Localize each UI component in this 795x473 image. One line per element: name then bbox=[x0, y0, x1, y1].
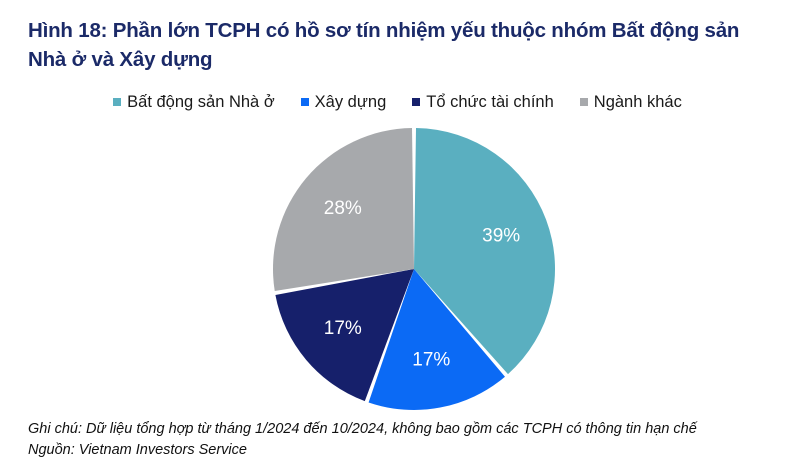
title-line-2: Nhà ở và Xây dựng bbox=[28, 45, 768, 74]
legend-item-to-chuc-tai-chinh[interactable]: Tổ chức tài chính bbox=[412, 92, 554, 112]
figure-container: Hình 18: Phần lớn TCPH có hồ sơ tín nhiệ… bbox=[0, 0, 795, 473]
chart-legend: Bất động sản Nhà ở Xây dựng Tổ chức tài … bbox=[0, 92, 795, 112]
legend-label: Ngành khác bbox=[594, 92, 682, 112]
pie-slice-label: 28% bbox=[324, 198, 362, 219]
pie-slice[interactable] bbox=[275, 269, 414, 401]
pie-slice[interactable] bbox=[414, 128, 555, 374]
pie-slice[interactable] bbox=[369, 269, 505, 410]
legend-label: Xây dựng bbox=[315, 92, 387, 112]
pie-slice-label: 17% bbox=[324, 318, 362, 339]
legend-swatch-icon bbox=[113, 98, 121, 106]
legend-item-xay-dung[interactable]: Xây dựng bbox=[301, 92, 387, 112]
page-title: Hình 18: Phần lớn TCPH có hồ sơ tín nhiệ… bbox=[28, 16, 768, 74]
title-line-1: Hình 18: Phần lớn TCPH có hồ sơ tín nhiệ… bbox=[28, 16, 768, 45]
legend-item-nganh-khac[interactable]: Ngành khác bbox=[580, 92, 682, 112]
pie-slice[interactable] bbox=[273, 128, 414, 291]
legend-item-bat-dong-san-nha-o[interactable]: Bất động sản Nhà ở bbox=[113, 92, 275, 112]
footnote-note: Ghi chú: Dữ liệu tổng hợp từ tháng 1/202… bbox=[28, 419, 778, 440]
footnote-source: Nguồn: Vietnam Investors Service bbox=[28, 440, 778, 461]
pie-slice-group bbox=[273, 128, 555, 410]
legend-label: Bất động sản Nhà ở bbox=[127, 92, 275, 112]
legend-swatch-icon bbox=[301, 98, 309, 106]
pie-label-group: 39%17%17%28% bbox=[324, 198, 521, 370]
legend-swatch-icon bbox=[580, 98, 588, 106]
figure-footnote: Ghi chú: Dữ liệu tổng hợp từ tháng 1/202… bbox=[28, 419, 778, 461]
pie-slice-label: 17% bbox=[412, 349, 450, 370]
pie-slice-label: 39% bbox=[482, 225, 520, 246]
legend-swatch-icon bbox=[412, 98, 420, 106]
legend-label: Tổ chức tài chính bbox=[426, 92, 554, 112]
